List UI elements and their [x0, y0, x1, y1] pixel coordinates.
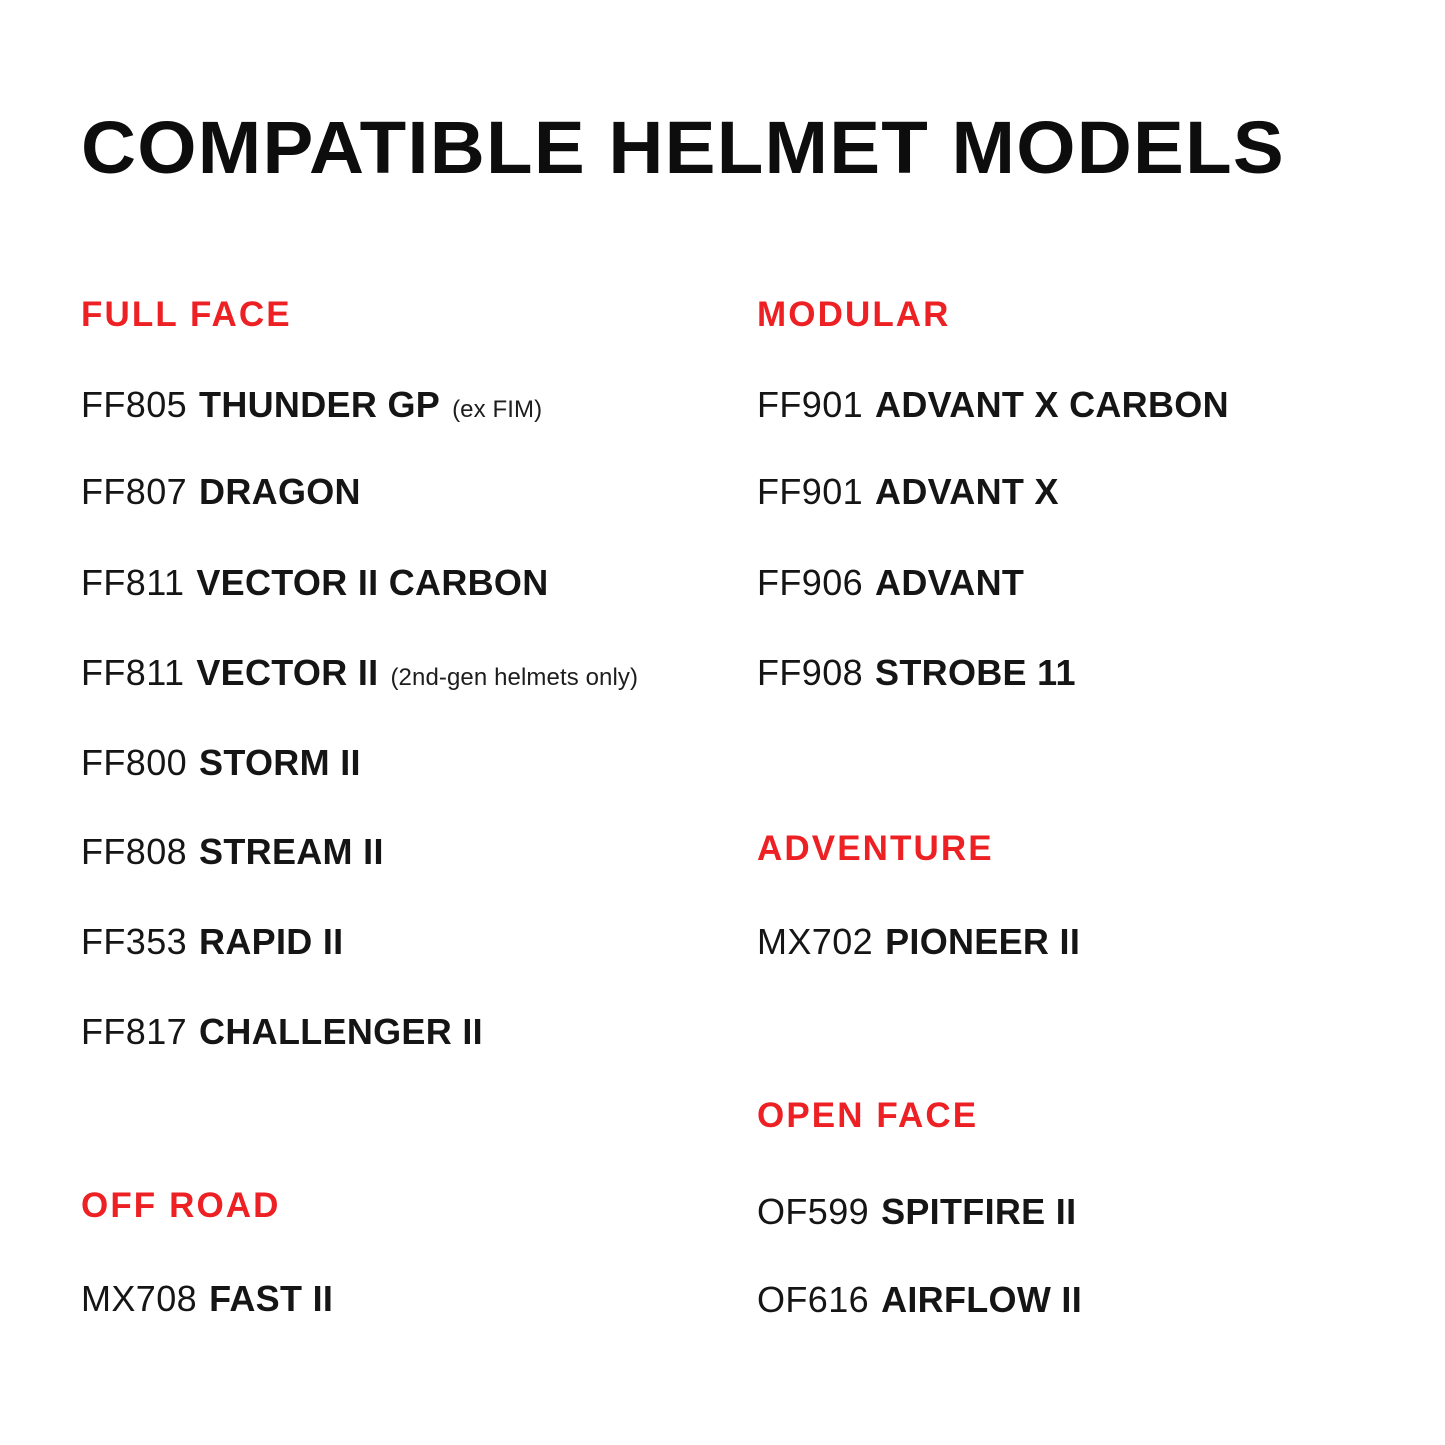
right-column: MODULARFF901ADVANT X CARBONFF901ADVANT X… [757, 0, 1437, 1445]
model-name: AIRFLOW II [881, 1279, 1082, 1320]
model-name: FAST II [209, 1278, 333, 1319]
model-name: VECTOR II CARBON [196, 562, 548, 603]
model-name: STROBE 11 [875, 652, 1076, 693]
model-name: CHALLENGER II [199, 1011, 483, 1052]
left-column: FULL FACEFF805THUNDER GP(ex FIM)FF807DRA… [81, 0, 761, 1445]
section-heading-modular: MODULAR [757, 296, 951, 334]
model-row: FF811VECTOR II(2nd-gen helmets only) [81, 653, 638, 698]
model-code: FF906 [757, 562, 863, 603]
model-name: ADVANT X [875, 471, 1059, 512]
model-name: RAPID II [199, 921, 343, 962]
helmet-compatibility-poster: COMPATIBLE HELMET MODELS FULL FACEFF805T… [0, 0, 1445, 1445]
model-row: FF906ADVANT [757, 563, 1024, 603]
model-code: FF817 [81, 1011, 187, 1052]
model-name: STREAM II [199, 831, 384, 872]
model-columns: FULL FACEFF805THUNDER GP(ex FIM)FF807DRA… [0, 0, 1445, 1445]
model-code: FF901 [757, 471, 863, 512]
model-row: FF353RAPID II [81, 922, 343, 962]
model-name: THUNDER GP [199, 384, 440, 425]
model-row: FF811VECTOR II CARBON [81, 563, 549, 603]
model-row: MX708FAST II [81, 1279, 333, 1319]
model-code: FF811 [81, 652, 184, 693]
section-heading-full-face: FULL FACE [81, 296, 292, 334]
model-row: MX702PIONEER II [757, 922, 1080, 962]
model-code: FF908 [757, 652, 863, 693]
model-note: (ex FIM) [452, 396, 542, 423]
model-row: FF908STROBE 11 [757, 653, 1076, 693]
model-code: FF808 [81, 831, 187, 872]
model-code: FF800 [81, 742, 187, 783]
model-code: OF599 [757, 1191, 869, 1232]
model-row: OF599SPITFIRE II [757, 1192, 1076, 1232]
model-name: STORM II [199, 742, 361, 783]
section-heading-adventure: ADVENTURE [757, 830, 994, 868]
model-code: MX702 [757, 921, 873, 962]
model-code: FF353 [81, 921, 187, 962]
model-row: FF805THUNDER GP(ex FIM) [81, 385, 542, 430]
section-heading-off-road: OFF ROAD [81, 1187, 281, 1225]
model-row: OF616AIRFLOW II [757, 1280, 1082, 1320]
model-name: DRAGON [199, 471, 361, 512]
model-code: FF805 [81, 384, 187, 425]
model-name: ADVANT [875, 562, 1024, 603]
model-row: FF800STORM II [81, 743, 361, 783]
model-code: FF901 [757, 384, 863, 425]
model-name: SPITFIRE II [881, 1191, 1076, 1232]
model-code: FF807 [81, 471, 187, 512]
model-row: FF901ADVANT X [757, 472, 1059, 512]
model-name: ADVANT X CARBON [875, 384, 1229, 425]
model-row: FF807DRAGON [81, 472, 361, 512]
model-row: FF808STREAM II [81, 832, 384, 872]
model-name: VECTOR II [196, 652, 378, 693]
section-heading-open-face: OPEN FACE [757, 1097, 978, 1135]
model-code: OF616 [757, 1279, 869, 1320]
model-code: MX708 [81, 1278, 197, 1319]
model-note: (2nd-gen helmets only) [390, 664, 638, 691]
model-name: PIONEER II [885, 921, 1080, 962]
model-code: FF811 [81, 562, 184, 603]
model-row: FF901ADVANT X CARBON [757, 385, 1229, 425]
model-row: FF817CHALLENGER II [81, 1012, 483, 1052]
